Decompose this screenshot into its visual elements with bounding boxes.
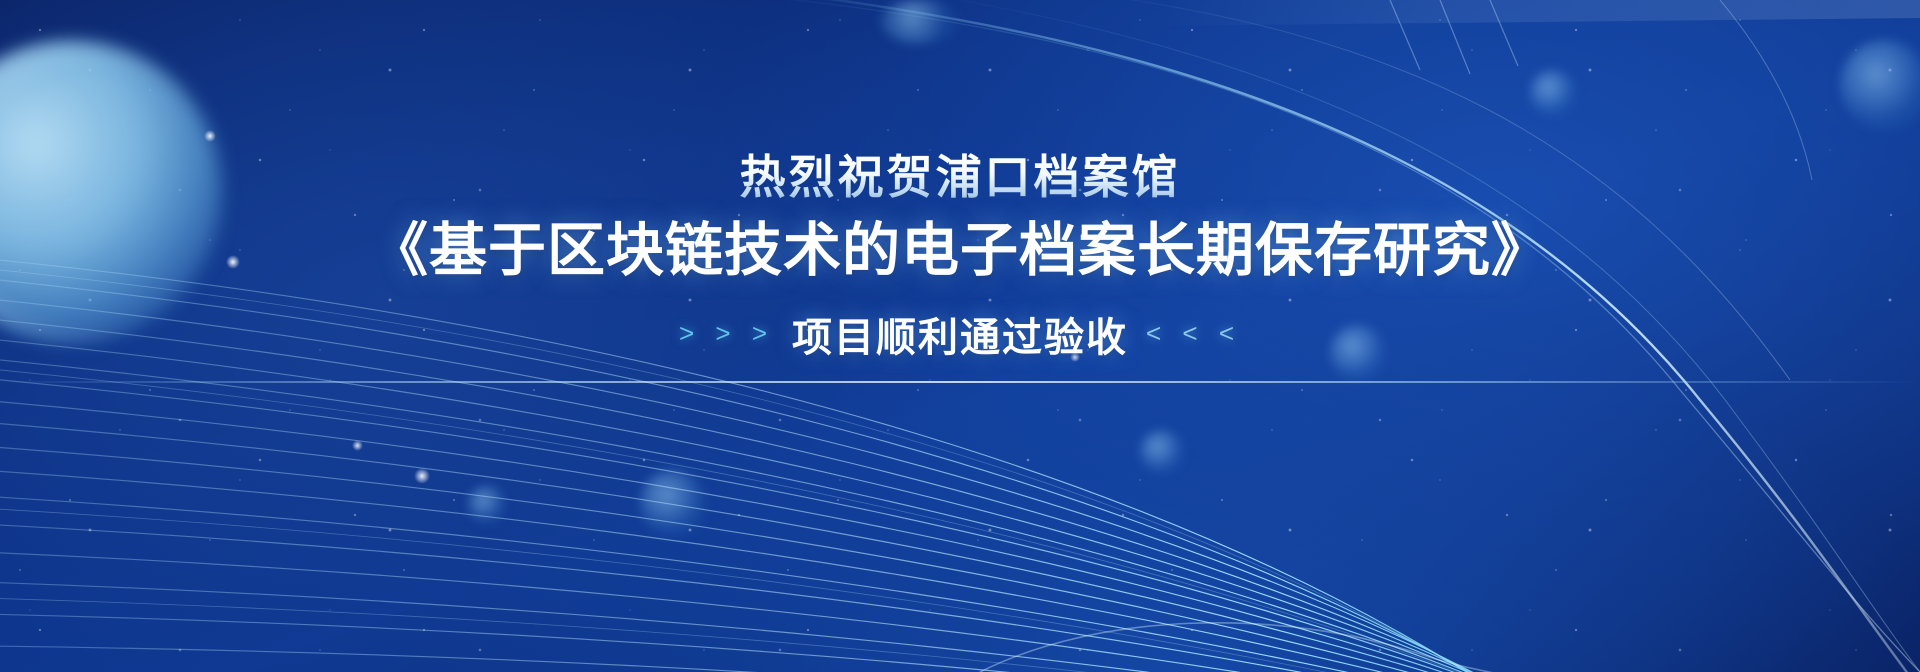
banner-subline-text: 项目顺利通过验收 (792, 305, 1128, 363)
banner-project-title: 《基于区块链技术的电子档案长期保存研究》 (370, 218, 1550, 285)
banner-headline: 热烈祝贺浦口档案馆 (740, 150, 1181, 205)
chevron-left-marker-icon: < < < (1146, 318, 1241, 349)
banner-subline: > > > 项目顺利通过验收 < < < (679, 305, 1241, 363)
banner-canvas: 热烈祝贺浦口档案馆 《基于区块链技术的电子档案长期保存研究》 > > > 项目顺… (0, 0, 1920, 672)
banner-text-block: 热烈祝贺浦口档案馆 《基于区块链技术的电子档案长期保存研究》 > > > 项目顺… (0, 0, 1920, 672)
chevron-right-marker-icon: > > > (679, 318, 774, 349)
